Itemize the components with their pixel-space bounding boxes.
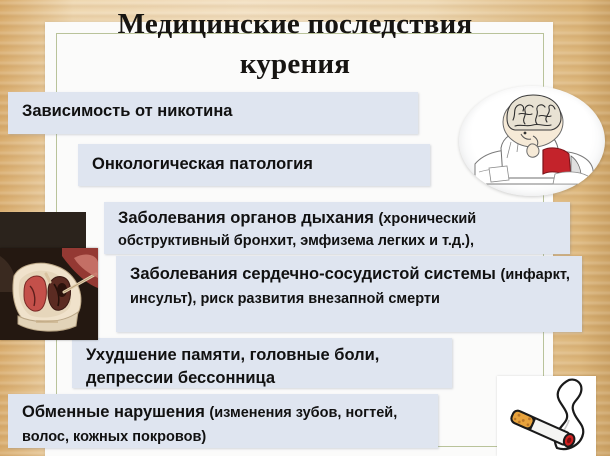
- fact-box-metabolic-disorders: Обменные нарушения (изменения зубов, ног…: [8, 394, 438, 448]
- fact-main-text: Зависимость от никотина: [22, 102, 232, 120]
- fact-main-text: Обменные нарушения: [22, 403, 209, 421]
- cigarette-illustration: [497, 376, 596, 456]
- fact-main-text: Заболевания сердечно-сосудистой системы: [130, 265, 500, 283]
- page-title: Медицинские последствия курения: [60, 4, 530, 84]
- fact-box-nicotine-dependence: Зависимость от никотина: [8, 92, 418, 134]
- fact-main-text: Заболевания органов дыхания: [118, 209, 378, 227]
- lungs-photo: [0, 248, 98, 340]
- fact-main-text: Онкологическая патология: [92, 155, 313, 173]
- fact-box-respiratory-diseases: Заболевания органов дыхания (хронический…: [104, 202, 570, 254]
- slide-canvas: Медицинские последствия курения Зависимо…: [0, 0, 610, 456]
- lungs-photo-backdrop: [0, 212, 86, 252]
- fact-main-text: Ухудшение памяти, головные боли, депресс…: [86, 346, 379, 387]
- fact-box-oncological-pathology: Онкологическая патология: [78, 144, 430, 186]
- brain-reading-illustration: [459, 86, 605, 196]
- fact-box-cardiovascular-diseases: Заболевания сердечно-сосудистой системы …: [116, 256, 582, 332]
- fact-box-memory-headaches: Ухудшение памяти, головные боли, депресс…: [72, 338, 452, 388]
